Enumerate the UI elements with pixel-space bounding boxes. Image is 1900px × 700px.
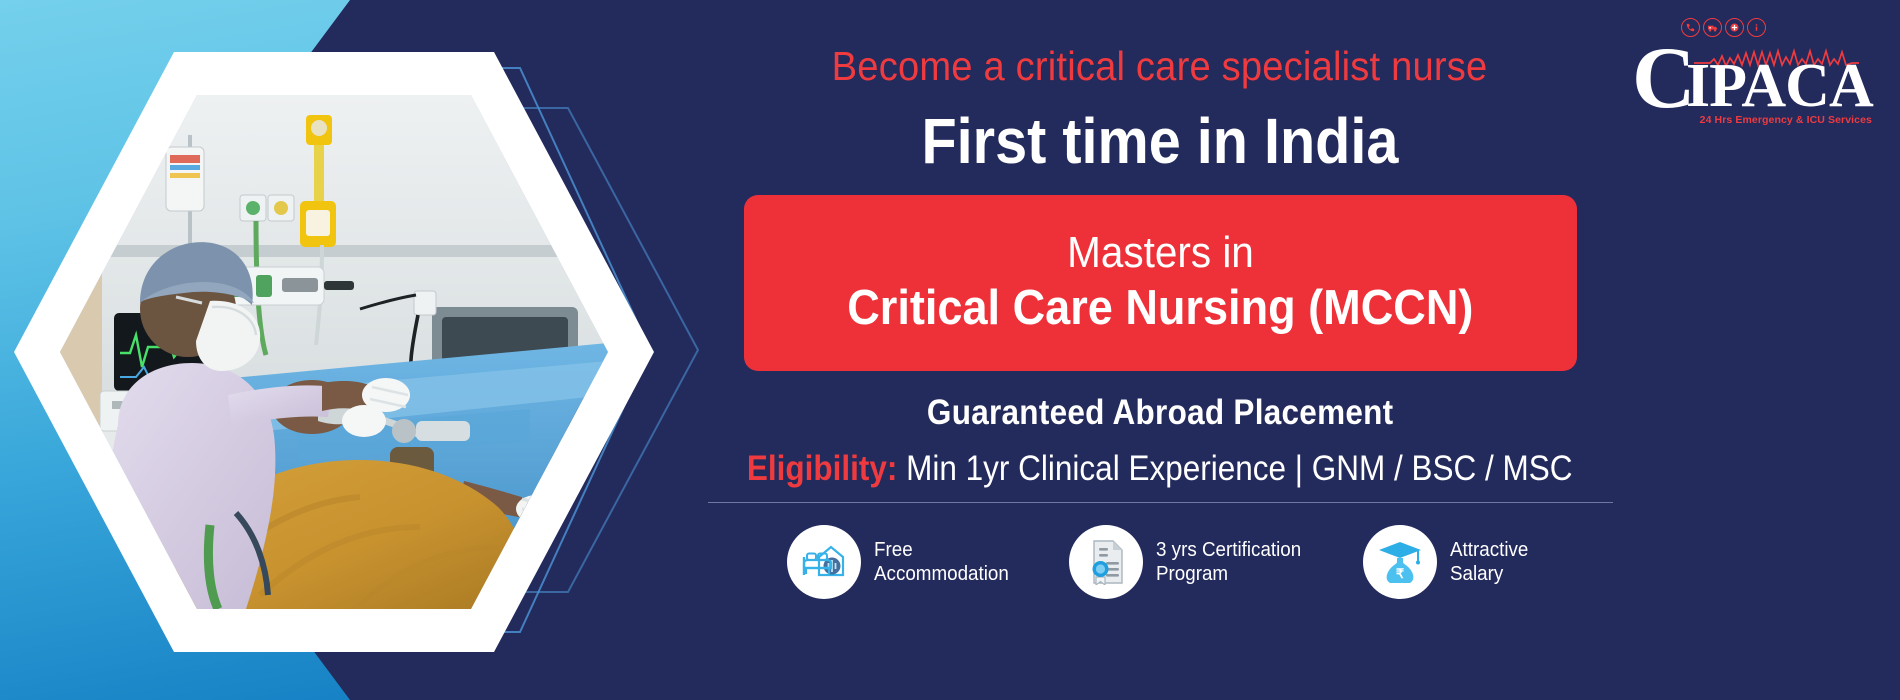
course-prefix: Masters in [1067, 231, 1254, 276]
logo-badge-icons [1574, 18, 1872, 37]
cipaca-logo[interactable]: C IPACA 24 Hrs Emergency & ICU Services [1632, 18, 1872, 126]
certificate-document-icon [1069, 525, 1143, 599]
feature-label: 3 yrs Certification Program [1156, 538, 1301, 587]
course-name: Critical Care Nursing (MCCN) [847, 283, 1473, 335]
placement-guarantee: Guaranteed Abroad Placement [927, 393, 1394, 433]
feature-item: 3 yrs Certification Program [1069, 525, 1311, 599]
eligibility-line: Eligibility: Min 1yr Clinical Experience… [747, 451, 1573, 486]
feature-item: Free Accommodation [787, 525, 1017, 599]
eligibility-label: Eligibility: [747, 449, 898, 488]
svg-text:₹: ₹ [1396, 566, 1405, 581]
feature-item: ₹ Attractive Salary [1363, 525, 1533, 599]
banner-content: Become a critical care specialist nurse … [640, 0, 1680, 700]
feature-line-1: 3 yrs Certification [1156, 538, 1301, 562]
feature-label: Attractive Salary [1450, 538, 1528, 587]
feature-line-1: Free [874, 538, 1009, 562]
medical-alert-icon [1725, 18, 1744, 37]
logo-letters-rest: IPACA [1686, 55, 1873, 117]
ambulance-icon [1703, 18, 1722, 37]
section-divider [708, 502, 1613, 503]
feature-line-2: Accommodation [874, 562, 1009, 586]
features-row: Free Accommodation [787, 525, 1533, 599]
feature-line-2: Salary [1450, 562, 1528, 586]
bed-home-icon [787, 525, 861, 599]
hexagon-photo-frame: 107 96 [14, 52, 654, 652]
graduation-cap-money-bag-icon: ₹ [1363, 525, 1437, 599]
page-title: First time in India [922, 109, 1399, 173]
course-highlight-box: Masters in Critical Care Nursing (MCCN) [744, 195, 1577, 371]
logo-wordmark: C IPACA [1632, 39, 1872, 113]
eligibility-value: Min 1yr Clinical Experience | GNM / BSC … [906, 449, 1572, 488]
info-icon [1747, 18, 1766, 37]
feature-line-2: Program [1156, 562, 1301, 586]
promotional-banner: 107 96 [0, 0, 1900, 700]
kicker-text: Become a critical care specialist nurse [832, 46, 1488, 87]
feature-line-1: Attractive [1450, 538, 1528, 562]
feature-label: Free Accommodation [874, 538, 1009, 587]
